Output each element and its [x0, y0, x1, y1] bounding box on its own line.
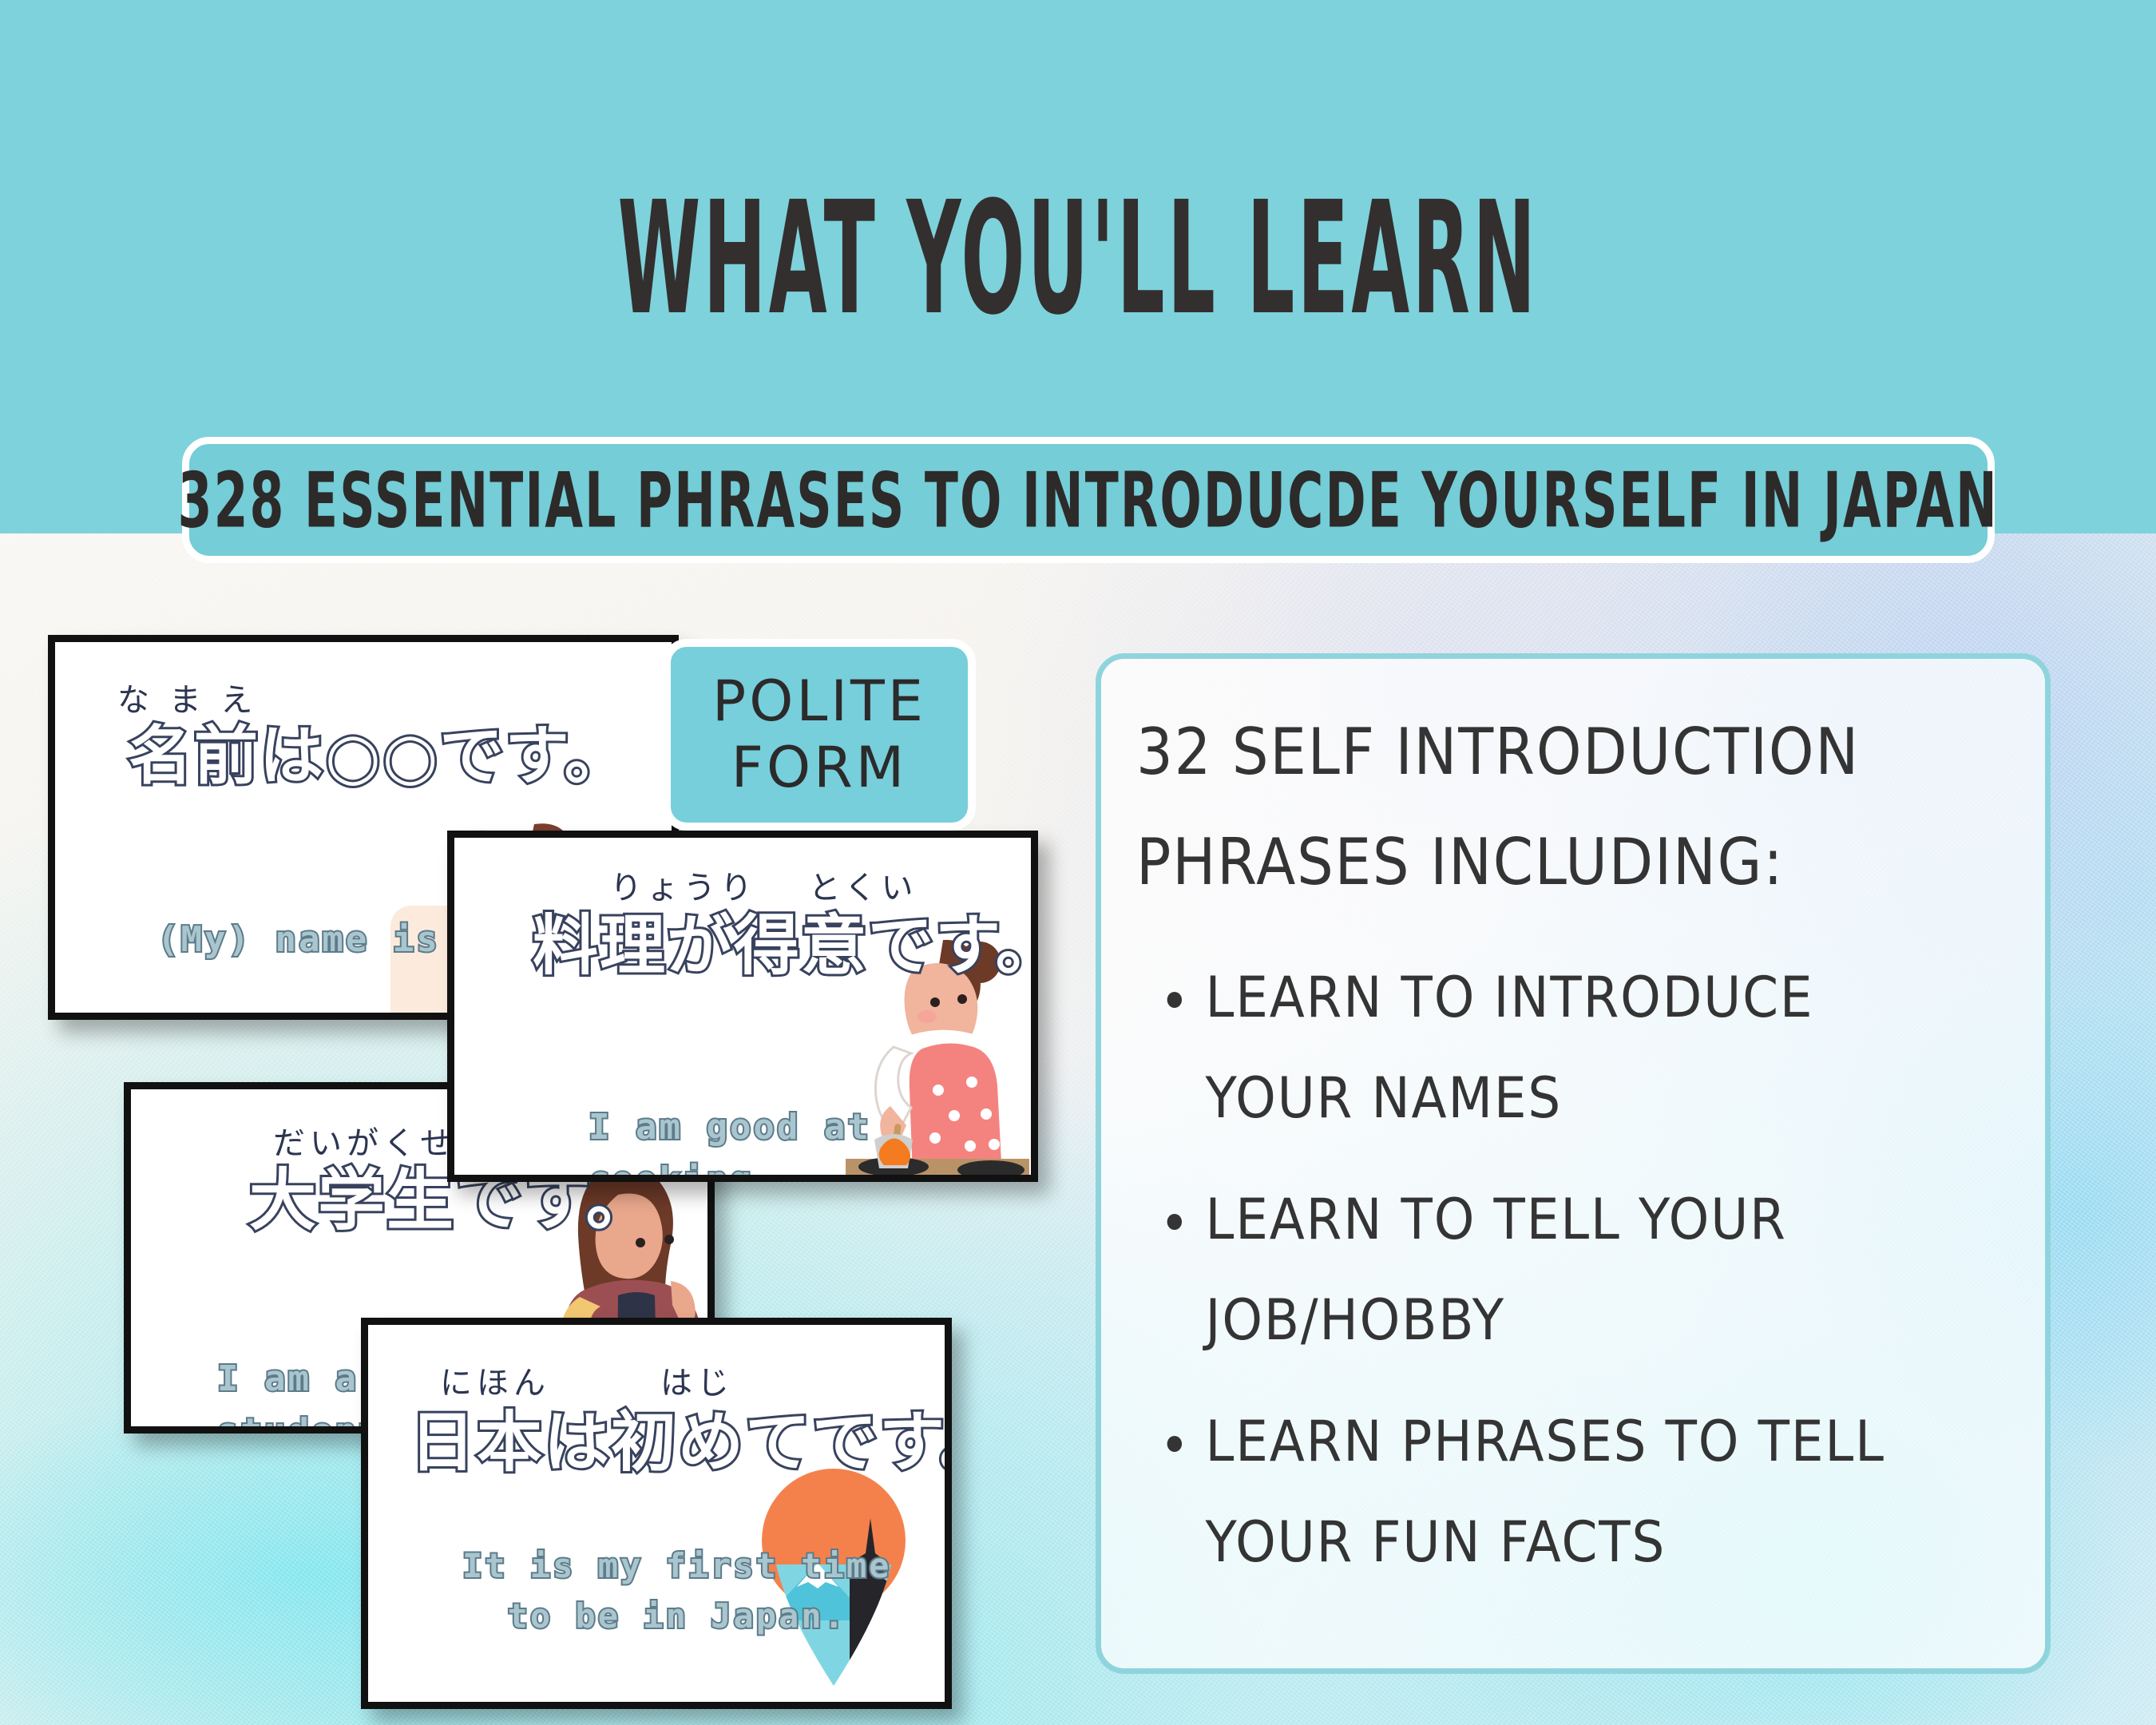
subtitle-text: 328 ESSENTIAL PHRASES TO INTRODUCDE YOUR…: [178, 455, 1999, 544]
flashcard-cooking[interactable]: りょうり とくい 料理が得意です。 I am good at cooking.: [447, 831, 1038, 1182]
card-japanese-phrase: 料理が得意です。: [533, 892, 1038, 987]
list-item: LEARN PHRASES TO TELL YOUR FUN FACTS: [1136, 1391, 1946, 1592]
page-title: WHAT YOU'LL LEARN: [474, 168, 1682, 349]
polite-form-line-1: POLITE: [712, 668, 926, 735]
poster-root: WHAT YOU'LL LEARN 328 ESSENTIAL PHRASES …: [0, 0, 2156, 1725]
polite-form-badge: POLITE FORM: [663, 639, 976, 831]
card-japanese-phrase: 日本は初めてです。: [410, 1389, 952, 1484]
polite-form-line-2: FORM: [731, 735, 907, 801]
info-heading-line-1: 32 SELF INTRODUCTION: [1136, 697, 1928, 807]
list-item: LEARN TO INTRODUCE YOUR NAMES: [1136, 947, 1946, 1148]
card-japanese-phrase: 名前は○○です。: [129, 704, 630, 797]
card-english-phrase: It is my first time to be in Japan.: [462, 1541, 891, 1641]
flashcard-first-time-japan[interactable]: にほん はじ 日本は初めてです。 It is my first time to …: [361, 1318, 952, 1709]
card-english-phrase: I am good at cooking.: [589, 1101, 1031, 1182]
info-bullet-list: LEARN TO INTRODUCE YOUR NAMES LEARN TO T…: [1136, 947, 2016, 1592]
info-heading-line-2: PHRASES INCLUDING:: [1136, 807, 1928, 918]
subtitle-banner: 328 ESSENTIAL PHRASES TO INTRODUCDE YOUR…: [182, 437, 1995, 563]
info-panel: 32 SELF INTRODUCTION PHRASES INCLUDING: …: [1096, 653, 2051, 1674]
list-item: LEARN TO TELL YOUR JOB/HOBBY: [1136, 1169, 1946, 1370]
